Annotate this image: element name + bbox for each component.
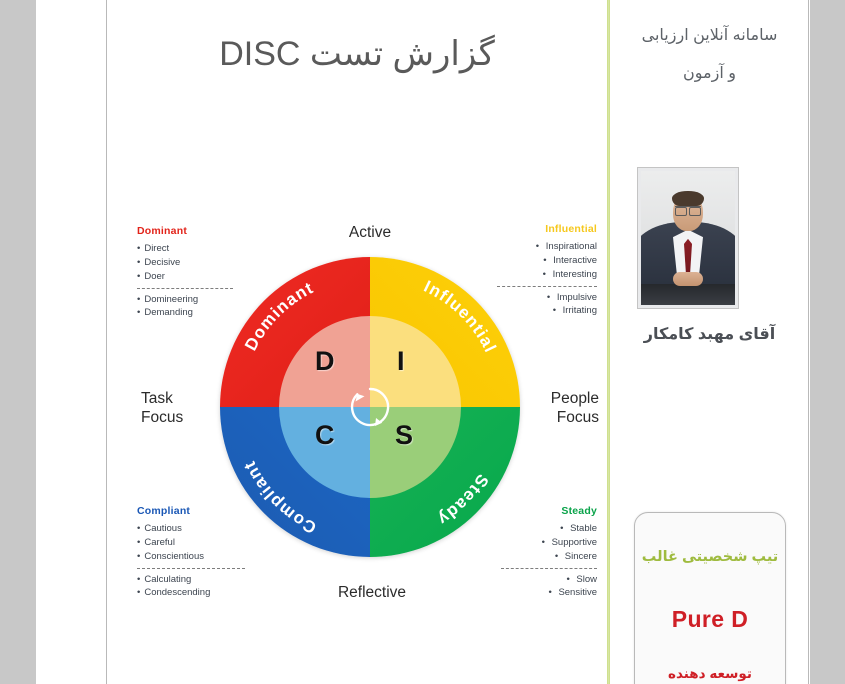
axis-label-people-focus: People Focus bbox=[517, 390, 599, 427]
page-frame-right-rule bbox=[808, 0, 809, 684]
photo-hair bbox=[672, 191, 704, 206]
quadrant-positive-traits-dominant: Direct Decisive Doer bbox=[137, 242, 233, 283]
disc-wheel-inner-disc: D I C S bbox=[279, 316, 461, 498]
axis-label-task-line2: Focus bbox=[141, 409, 221, 428]
list-item: Slow bbox=[487, 573, 597, 587]
sidebar: سامانه آنلاین ارزیابی و آزمون آقای مهبد … bbox=[611, 0, 808, 684]
list-item: Direct bbox=[137, 242, 233, 256]
quadrant-heading-influential: Influential bbox=[487, 222, 597, 237]
page-root: گزارش تست DISC Active Reflective Task Fo… bbox=[0, 0, 845, 684]
list-item: Domineering bbox=[137, 293, 233, 307]
document-sheet: گزارش تست DISC Active Reflective Task Fo… bbox=[36, 0, 810, 684]
brand-line-1: سامانه آنلاین ارزیابی bbox=[611, 18, 808, 54]
quadrant-negative-traits-steady: Slow Sensitive bbox=[487, 573, 597, 601]
axis-label-task-focus: Task Focus bbox=[141, 390, 221, 427]
quadrant-negative-traits-dominant: Domineering Demanding bbox=[137, 293, 233, 321]
glasses-icon bbox=[675, 206, 701, 213]
brand-line-2: و آزمون bbox=[611, 56, 808, 92]
axis-label-reflective: Reflective bbox=[312, 584, 432, 603]
axis-label-people-line2: Focus bbox=[517, 409, 599, 428]
wheel-letter-d: D bbox=[315, 346, 335, 377]
list-item: Condescending bbox=[137, 586, 245, 600]
page-title: گزارش تست DISC bbox=[107, 34, 607, 74]
person-name: آقای مهبد کامکار bbox=[611, 324, 808, 344]
column-divider bbox=[607, 0, 610, 684]
type-card-heading: تیپ شخصیتی غالب bbox=[635, 549, 785, 565]
list-item: Sensitive bbox=[487, 586, 597, 600]
main-content-column: گزارش تست DISC Active Reflective Task Fo… bbox=[107, 0, 607, 684]
divider-dashed bbox=[137, 288, 233, 289]
list-item: Calculating bbox=[137, 573, 245, 587]
list-item: Demanding bbox=[137, 306, 233, 320]
axis-label-people-line1: People bbox=[517, 390, 599, 409]
sidebar-brand: سامانه آنلاین ارزیابی و آزمون bbox=[611, 18, 808, 92]
list-item: Decisive bbox=[137, 256, 233, 270]
quadrant-heading-dominant: Dominant bbox=[137, 224, 233, 239]
disc-wheel: D I C S bbox=[220, 257, 520, 557]
quadrant-list-dominant: Dominant Direct Decisive Doer Domineerin… bbox=[137, 224, 233, 320]
dominant-type-card: تیپ شخصیتی غالب Pure D توسعه دهنده bbox=[634, 512, 786, 684]
divider-dashed bbox=[501, 568, 597, 569]
avatar bbox=[637, 167, 739, 309]
type-card-code: Pure D bbox=[635, 606, 785, 633]
disc-wheel-figure: Active Reflective Task Focus People Focu… bbox=[127, 212, 607, 622]
list-item: Inspirational bbox=[487, 240, 597, 254]
wheel-letter-i: I bbox=[397, 346, 405, 377]
wheel-letter-c: C bbox=[315, 420, 335, 451]
circular-arrow-icon bbox=[347, 384, 393, 430]
list-item: Doer bbox=[137, 270, 233, 284]
type-card-subtitle: توسعه دهنده bbox=[635, 666, 785, 682]
divider-dashed bbox=[137, 568, 245, 569]
photo-hands bbox=[673, 272, 703, 286]
wheel-letter-s: S bbox=[395, 420, 413, 451]
quadrant-negative-traits-compliant: Calculating Condescending bbox=[137, 573, 245, 601]
axis-label-task-line1: Task bbox=[141, 390, 221, 409]
avatar-photo bbox=[641, 171, 735, 305]
axis-label-active: Active bbox=[315, 224, 425, 243]
